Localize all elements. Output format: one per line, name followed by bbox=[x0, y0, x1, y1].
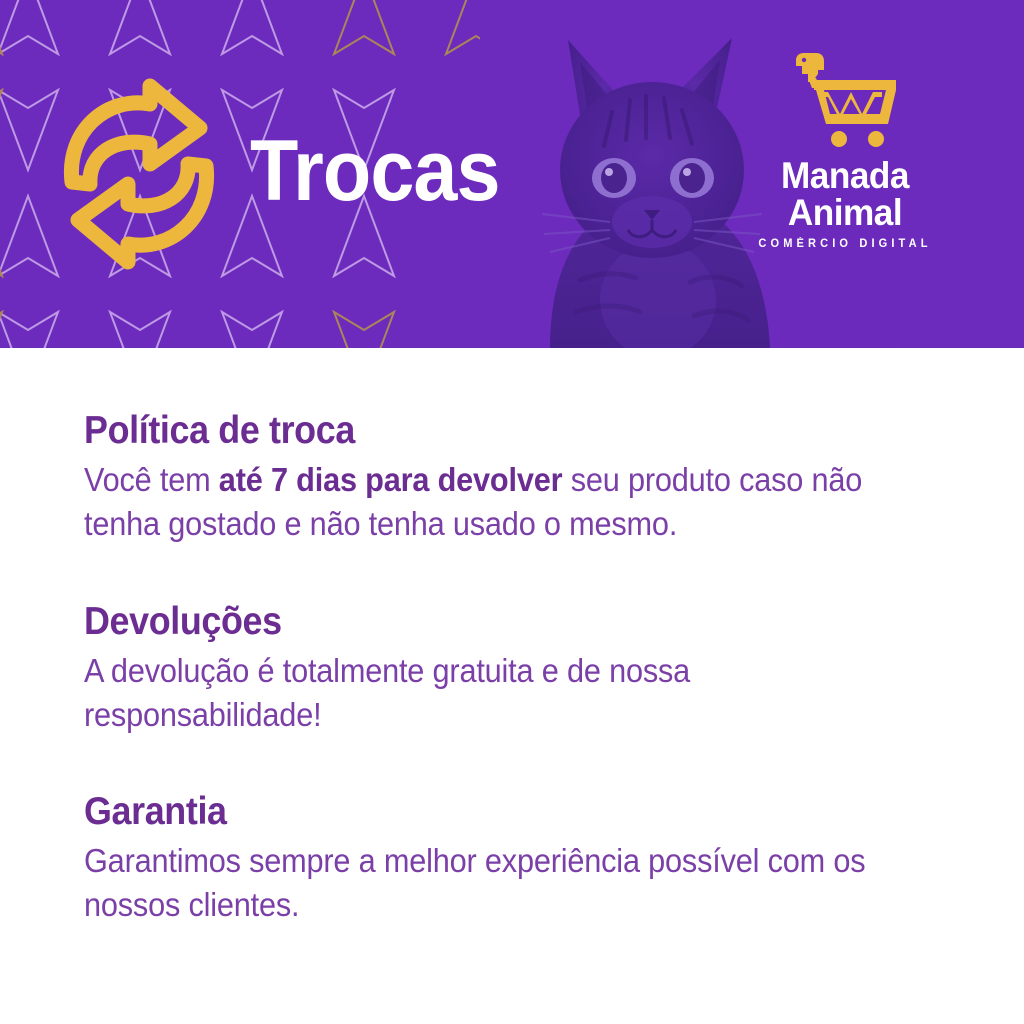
page-title: Trocas bbox=[250, 128, 500, 214]
brand-logo[interactable]: Manada Animal COMÉRCIO DIGITAL bbox=[750, 52, 940, 250]
section-garantia: Garantia Garantimos sempre a melhor expe… bbox=[84, 791, 940, 928]
header-banner: Trocas Manada bbox=[0, 0, 1024, 348]
section-devolucoes: Devoluções A devolução é totalmente grat… bbox=[84, 601, 940, 738]
section-politica-de-troca: Política de troca Você tem até 7 dias pa… bbox=[84, 410, 940, 547]
brand-tagline: COMÉRCIO DIGITAL bbox=[754, 238, 936, 250]
brand-name-line2: Animal bbox=[755, 195, 936, 232]
section-body: Garantimos sempre a melhor experiência p… bbox=[84, 839, 880, 927]
exchange-arrows-icon bbox=[58, 78, 220, 270]
body-text-bold: até 7 dias para devolver bbox=[219, 461, 563, 498]
promo-card: Trocas Manada bbox=[0, 0, 1024, 1024]
policy-content: Política de troca Você tem até 7 dias pa… bbox=[0, 348, 1024, 928]
body-text-pre: Você tem bbox=[84, 461, 219, 498]
section-title: Garantia bbox=[84, 791, 872, 833]
brand-name-line1: Manada bbox=[755, 158, 936, 195]
section-body: A devolução é totalmente gratuita e de n… bbox=[84, 649, 880, 737]
section-title: Política de troca bbox=[84, 410, 872, 452]
body-text-pre: A devolução é totalmente gratuita e de n… bbox=[84, 652, 690, 733]
body-text-pre: Garantimos sempre a melhor experiência p… bbox=[84, 842, 865, 923]
animal-shopping-cart-icon bbox=[790, 52, 900, 148]
section-body: Você tem até 7 dias para devolver seu pr… bbox=[84, 458, 880, 546]
section-title: Devoluções bbox=[84, 601, 872, 643]
